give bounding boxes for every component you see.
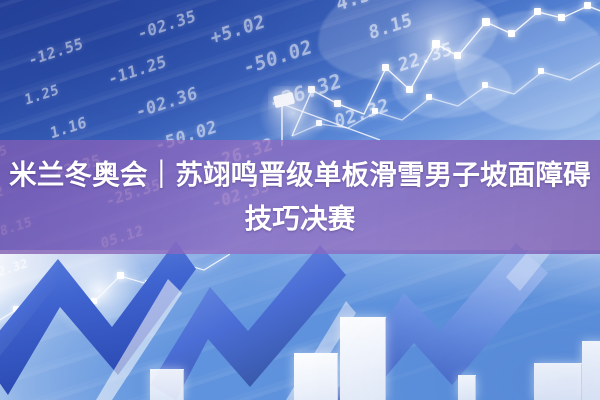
background-lower-field <box>0 250 600 400</box>
hero-banner: -69.06 -12.55 -02.35 21.06 45.02 -25.35 … <box>0 0 600 400</box>
headline-container: 米兰冬奥会｜苏翊鸣晋级单板滑雪男子坡面障碍技巧决赛 <box>0 140 600 254</box>
page-title: 米兰冬奥会｜苏翊鸣晋级单板滑雪男子坡面障碍技巧决赛 <box>6 153 594 241</box>
